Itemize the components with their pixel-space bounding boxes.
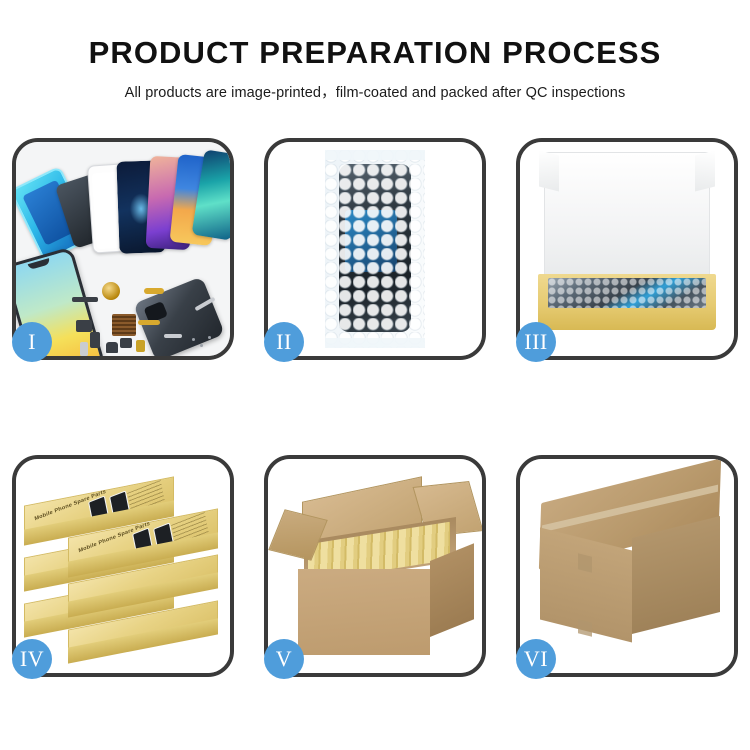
- screw-part-2: [200, 344, 203, 347]
- bag-seal-bottom: [325, 338, 425, 348]
- connector-part-2: [90, 332, 100, 348]
- step-badge-6: VI: [516, 639, 556, 679]
- bracket-part: [164, 334, 182, 338]
- mesh-grid-part: [112, 314, 136, 336]
- mailer-box: [538, 152, 716, 330]
- step-badge-2: II: [264, 322, 304, 362]
- packed-item-in-box: [548, 278, 706, 308]
- retail-box-stack: Mobile Phone Spare Parts Mobile Phone Sp…: [20, 469, 226, 669]
- connector-part-3: [120, 338, 132, 348]
- sealed-shipping-carton: [532, 481, 722, 657]
- step-image-boxes-stacked: Mobile Phone Spare Parts Mobile Phone Sp…: [16, 459, 230, 673]
- step-panel-bubble-wrap: II: [264, 138, 486, 360]
- step-panel-carton-sealed: VI: [516, 455, 738, 677]
- screw-part-1: [192, 338, 195, 341]
- step-panel-boxes-stacked: Mobile Phone Spare Parts Mobile Phone Sp…: [12, 455, 234, 677]
- speaker-coil-part: [102, 282, 120, 300]
- open-shipping-carton: [282, 483, 472, 655]
- flex-cable-part-2: [138, 320, 160, 325]
- sealed-carton-tape-1: [578, 553, 592, 572]
- flex-cable-part-1: [144, 288, 164, 294]
- product-preparation-infographic: PRODUCT PREPARATION PROCESS All products…: [0, 0, 750, 750]
- step-panel-inner-box: III: [516, 138, 738, 360]
- step-image-bubble-wrap: [268, 142, 482, 356]
- step-badge-1: I: [12, 322, 52, 362]
- step-panel-product-parts: I: [12, 138, 234, 360]
- step-image-carton-filled: [268, 459, 482, 673]
- earpiece-mesh-part: [72, 297, 98, 302]
- connector-part-1: [76, 320, 92, 332]
- step-image-inner-box: [520, 142, 734, 356]
- bubble-wrap-bag: [325, 150, 425, 348]
- carton-right-face: [430, 543, 474, 637]
- camera-module-part: [106, 342, 118, 353]
- page-title: PRODUCT PREPARATION PROCESS: [0, 34, 750, 72]
- mailer-box-lid: [544, 152, 710, 286]
- step-panel-carton-filled: V: [264, 455, 486, 677]
- sim-tray-part: [80, 342, 88, 356]
- bag-seal-top: [325, 150, 425, 160]
- step-image-product-parts: [16, 142, 230, 356]
- vibration-motor-part: [136, 340, 145, 352]
- sealed-carton-tape-2: [578, 619, 592, 636]
- page-subtitle: All products are image-printed，film-coat…: [0, 81, 750, 102]
- step-badge-3: III: [516, 322, 556, 362]
- mailer-box-tray: [538, 274, 716, 330]
- screw-part-3: [208, 336, 211, 339]
- step-badge-4: IV: [12, 639, 52, 679]
- bubble-texture: [325, 150, 425, 348]
- step-image-carton-sealed: [520, 459, 734, 673]
- steps-grid: I II: [12, 138, 738, 683]
- header: PRODUCT PREPARATION PROCESS All products…: [0, 34, 750, 102]
- sealed-carton-right-face: [632, 516, 720, 634]
- retail-box-top-left: Mobile Phone Spare Parts: [24, 491, 174, 517]
- step-badge-5: V: [264, 639, 304, 679]
- carton-front-face: [298, 569, 430, 655]
